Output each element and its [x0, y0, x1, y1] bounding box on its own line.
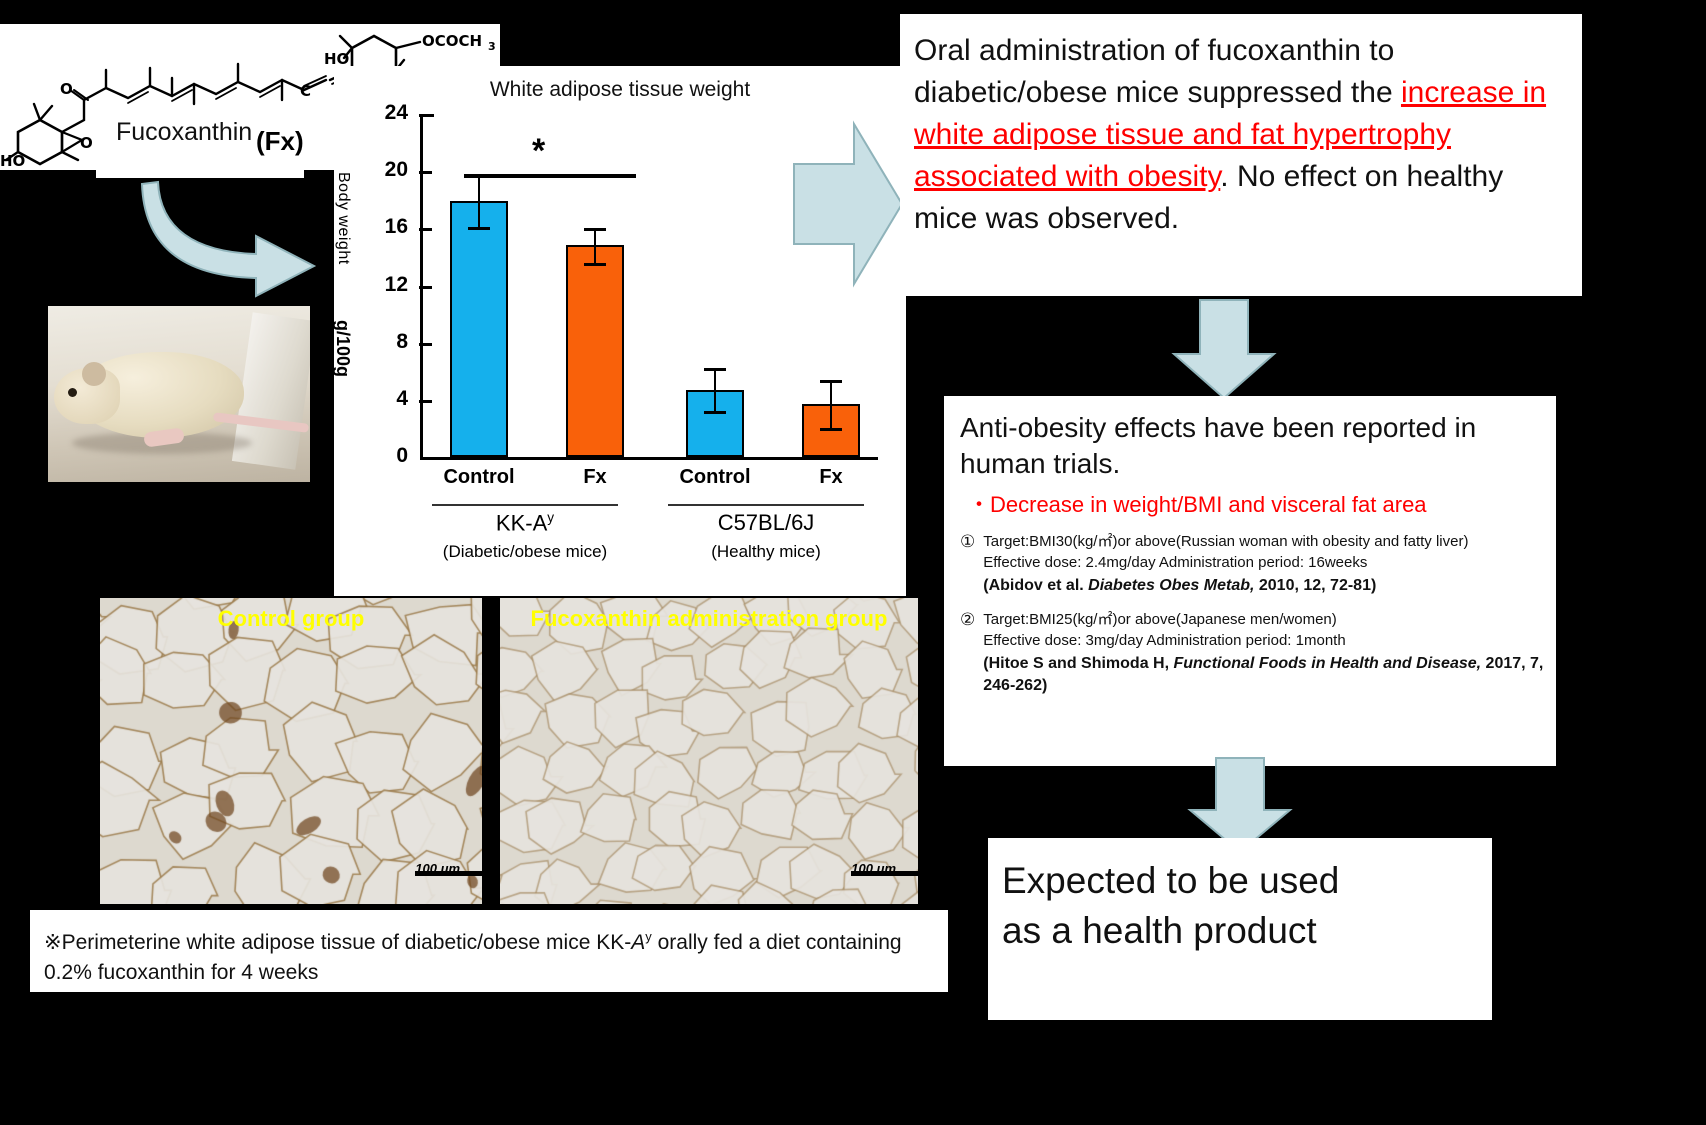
bar-0: [450, 201, 508, 457]
human-trials-box: Anti-obesity effects have been reported …: [944, 396, 1556, 766]
adipocyte-tissue-image-control: [100, 598, 482, 904]
scale-bar-fx: 100 μm: [851, 861, 896, 876]
conclusion-text-box: Oral administration of fucoxanthin to di…: [900, 14, 1582, 296]
significance-star-label: *: [532, 132, 545, 171]
reference-target-2: Target:BMI25(kg/㎡)or above(Japanese men/…: [983, 609, 1546, 630]
conclusion-part1: Oral administration of fucoxanthin to di…: [914, 34, 1401, 109]
y-tick: [419, 228, 432, 231]
scale-bar-line-fx: [851, 871, 918, 876]
svg-text:O: O: [60, 80, 73, 98]
error-bar-1: [594, 228, 596, 262]
y-tick-label: 8: [364, 330, 408, 354]
svg-text:3: 3: [488, 40, 496, 53]
footnote-italic: A: [631, 931, 645, 954]
error-cap-1-1: [584, 263, 606, 266]
y-tick: [419, 343, 432, 346]
y-tick-label: 4: [364, 387, 408, 411]
y-axis-title-line1: Body weight: [334, 172, 352, 265]
reference-dose-2: Effective dose: 3mg/day Administration p…: [983, 630, 1546, 651]
error-bar-2: [714, 368, 716, 411]
final-conclusion-box: Expected to be used as a health product: [988, 838, 1492, 1020]
y-tick: [419, 400, 432, 403]
error-cap-3-1: [820, 428, 842, 431]
x-axis-line: [420, 457, 878, 460]
reference-target-1: Target:BMI30(kg/㎡)or above(Russian woman…: [983, 531, 1468, 552]
reference-body-2: Target:BMI25(kg/㎡)or above(Japanese men/…: [983, 609, 1546, 697]
fucoxanthin-name-label: Fucoxanthin: [116, 118, 252, 146]
footnote-box: ※Perimeterine white adipose tissue of di…: [30, 910, 948, 992]
group-underline-1: [432, 504, 618, 506]
trials-heading: Anti-obesity effects have been reported …: [960, 410, 1546, 482]
reference-item-1: ① Target:BMI30(kg/㎡)or above(Russian wom…: [960, 531, 1546, 597]
adipocyte-tissue-image-fx: [500, 598, 918, 904]
micrograph-fucoxanthin-group: Fucoxanthin administration group 100 μm: [500, 598, 918, 904]
arrow-down-icon-1: [1170, 298, 1278, 402]
reference-item-2: ② Target:BMI25(kg/㎡)or above(Japanese me…: [960, 609, 1546, 697]
trials-bullet: ・Decrease in weight/BMI and visceral fat…: [960, 490, 1546, 519]
x-label-1: Fx: [544, 466, 646, 489]
x-label-0: Control: [428, 466, 530, 489]
y-tick: [419, 286, 432, 289]
svg-text:HO: HO: [0, 152, 25, 170]
x-label-2: Control: [664, 466, 766, 489]
micrograph-label-fx: Fucoxanthin administration group: [500, 606, 918, 632]
x-label-3: Fx: [780, 466, 882, 489]
reference-number-1: ①: [960, 531, 975, 597]
reference-body-1: Target:BMI30(kg/㎡)or above(Russian woman…: [983, 531, 1468, 597]
svg-text:O: O: [80, 134, 93, 152]
y-tick-label: 24: [364, 101, 408, 125]
group-sub-2: (Healthy mice): [658, 542, 874, 562]
final-line2: as a health product: [1002, 906, 1478, 956]
fucoxanthin-abbreviation-label: (Fx): [256, 126, 304, 157]
svg-text:C: C: [300, 82, 311, 100]
group-sub-1: (Diabetic/obese mice): [412, 542, 638, 562]
reference-dose-1: Effective dose: 2.4mg/day Administration…: [983, 552, 1468, 573]
y-tick-label: 0: [364, 444, 408, 468]
micrograph-control-group: Control group 100 μm: [100, 598, 482, 904]
error-cap-3-0: [820, 380, 842, 383]
chart-title: White adipose tissue weight: [334, 78, 906, 102]
scale-bar-control: 100 μm: [415, 861, 460, 876]
svg-text:OCOCH: OCOCH: [422, 32, 482, 50]
bar-1: [566, 245, 624, 457]
y-tick-label: 12: [364, 273, 408, 297]
y-tick-label: 20: [364, 158, 408, 182]
scale-bar-line-control: [415, 871, 482, 876]
error-cap-1-0: [584, 228, 606, 231]
group-name-2: C57BL/6J: [668, 510, 864, 536]
reference-number-2: ②: [960, 609, 975, 697]
error-bar-0: [478, 175, 480, 226]
y-tick-label: 16: [364, 215, 408, 239]
group-name-1: KK-Ay: [432, 510, 618, 536]
conclusion-text: Oral administration of fucoxanthin to di…: [914, 30, 1570, 240]
y-axis-title-line2: g/100g: [332, 320, 353, 377]
micrograph-label-control: Control group: [100, 606, 482, 632]
curved-arrow-down-right-icon: [138, 176, 338, 306]
arrow-right-icon: [790, 108, 906, 304]
significance-bracket-line: [464, 174, 636, 178]
footnote-text: ※Perimeterine white adipose tissue of di…: [44, 922, 938, 988]
error-cap-0-1: [468, 227, 490, 230]
error-cap-2-0: [704, 368, 726, 371]
diabetic-obese-mouse-photo: [48, 306, 310, 482]
reference-citation-2: (Hitoe S and Shimoda H, Functional Foods…: [983, 653, 1546, 697]
final-line1: Expected to be used: [1002, 856, 1478, 906]
group-underline-2: [668, 504, 864, 506]
y-axis-tick-labels: 04812162024: [364, 114, 408, 459]
y-tick: [419, 114, 432, 117]
y-tick: [419, 171, 432, 174]
footnote-pre: ※Perimeterine white adipose tissue of di…: [44, 931, 631, 954]
error-bar-3: [830, 380, 832, 429]
reference-citation-1: (Abidov et al. Diabetes Obes Metab, 2010…: [983, 575, 1468, 597]
error-cap-2-1: [704, 411, 726, 414]
